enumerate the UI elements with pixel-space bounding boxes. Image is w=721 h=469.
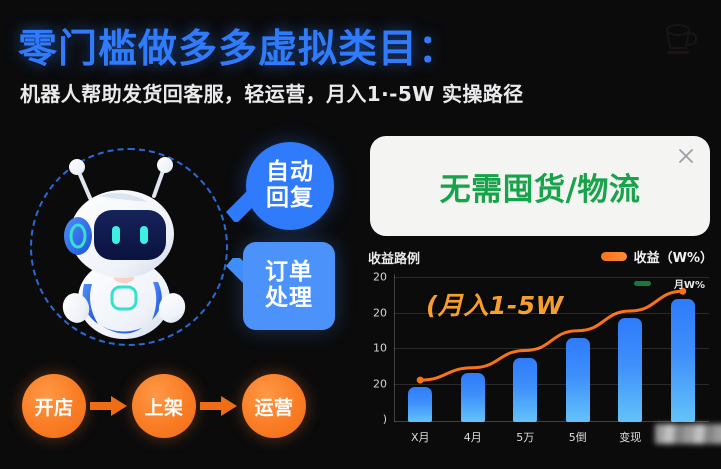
arrow-right-icon <box>90 395 128 417</box>
page-title: 零门槛做多多虚拟类目： <box>18 18 458 74</box>
chart-legend: 收益（W%） <box>601 247 713 266</box>
flow-steps: 开店 上架 运营 <box>22 370 342 442</box>
left-panel: 自动 回复 订单 处理 开店 上架 运营 <box>0 120 360 469</box>
feature-bubble-auto-reply[interactable]: 自动 回复 <box>246 142 334 230</box>
arrow-right-icon <box>200 395 238 417</box>
revenue-chart: 收益路例 收益（W%） (月入1-5W 月W% 20201020)X月4月5万5… <box>360 248 721 469</box>
flow-arrow-1 <box>86 395 132 417</box>
chart-bar <box>618 318 642 422</box>
close-x-icon[interactable] <box>676 146 696 166</box>
chart-x-tick-redacted <box>655 424 721 444</box>
flow-step-operate[interactable]: 运营 <box>242 374 306 438</box>
chart-x-tick: 5倒 <box>569 429 587 445</box>
chart-gridline <box>394 348 709 349</box>
chart-x-tick: X月 <box>411 429 430 445</box>
chart-bar <box>566 338 590 422</box>
chart-bar <box>408 387 432 422</box>
feature-bubble-order-processing[interactable]: 订单 处理 <box>243 242 335 330</box>
chart-x-tick: 4月 <box>464 429 482 445</box>
endnote-dash-icon <box>634 281 651 286</box>
coffee-cup-icon <box>661 18 701 60</box>
poster-canvas: 零门槛做多多虚拟类目： 机器人帮助发货回客服，轻运营，月入1·-5W 实操路径 <box>0 0 721 469</box>
highlight-card: 无需囤货/物流 <box>370 136 710 236</box>
highlight-card-text: 无需囤货/物流 <box>440 164 641 209</box>
chart-y-tick: ) <box>383 413 387 426</box>
chart-y-tick: 20 <box>373 306 387 319</box>
feature-bubble-order-line1: 订单 <box>265 260 313 286</box>
legend-swatch-icon <box>601 252 627 261</box>
flow-step-open-shop[interactable]: 开店 <box>22 374 86 438</box>
robot-illustration <box>28 140 248 355</box>
feature-bubble-auto-reply-line2: 回复 <box>266 186 314 212</box>
chart-bar <box>513 358 537 422</box>
chart-plot-area: (月入1-5W 月W% 20201020)X月4月5万5倒变现 <box>394 274 709 422</box>
robot-mascot-icon <box>50 156 210 346</box>
chart-x-tick: 变现 <box>619 429 641 445</box>
chart-bar <box>671 299 695 422</box>
chart-y-tick: 20 <box>373 377 387 390</box>
chart-gridline <box>394 384 709 385</box>
chart-bar <box>461 373 485 422</box>
legend-label: 收益（W%） <box>634 247 713 266</box>
chart-title: 收益路例 <box>368 248 420 267</box>
chart-y-tick: 20 <box>373 271 387 284</box>
flow-step-list-product[interactable]: 上架 <box>132 374 196 438</box>
feature-bubble-auto-reply-line1: 自动 <box>266 160 314 186</box>
flow-arrow-2 <box>196 395 242 417</box>
right-panel: 无需囤货/物流 收益路例 收益（W%） (月入1-5W 月W% 20201020… <box>360 130 721 469</box>
chart-endnote: 月W% <box>674 276 705 291</box>
chart-y-tick: 10 <box>373 342 387 355</box>
page-subtitle: 机器人帮助发货回客服，轻运营，月入1·-5W 实操路径 <box>20 78 524 107</box>
chart-gridline <box>394 277 709 278</box>
feature-bubble-order-line2: 处理 <box>265 286 313 312</box>
chart-x-tick: 5万 <box>516 429 534 445</box>
chart-gridline <box>394 313 709 314</box>
chart-callout: (月入1-5W <box>426 286 564 322</box>
